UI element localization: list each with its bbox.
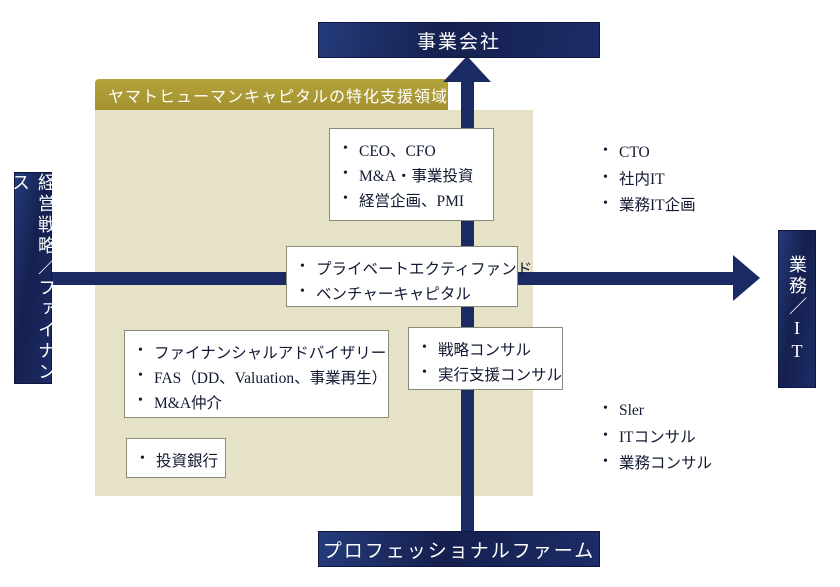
list-item: 社内IT bbox=[602, 167, 696, 194]
list-item: 業務コンサル bbox=[602, 451, 712, 478]
list-item: 戦略コンサル bbox=[421, 338, 548, 363]
list-item: ファイナンシャルアドバイザリー bbox=[137, 341, 374, 366]
banner-business-company: 事業会社 bbox=[318, 22, 600, 58]
banner-operations-it: 業務／IT bbox=[778, 230, 816, 388]
box-investment-bank: 投資銀行 bbox=[126, 438, 226, 478]
list-it-corporate: CTO 社内IT 業務IT企画 bbox=[602, 140, 696, 220]
list-item: M&A仲介 bbox=[137, 391, 374, 416]
list-item: ITコンサル bbox=[602, 425, 712, 452]
box-financial-advisory: ファイナンシャルアドバイザリー FAS（DD、Valuation、事業再生） M… bbox=[124, 330, 389, 418]
list-item: CEO、CFO bbox=[342, 139, 479, 164]
diagram-canvas: ヤマトヒューマンキャピタルの特化支援領域 事業会社 プロフェッショナルファーム … bbox=[0, 0, 840, 587]
right-arrowhead-icon bbox=[733, 255, 760, 301]
highlight-panel-title: ヤマトヒューマンキャピタルの特化支援領域 bbox=[95, 79, 448, 110]
list-item: プライベートエクティファンド bbox=[299, 257, 503, 282]
box-fund-investors: プライベートエクティファンド ベンチャーキャピタル bbox=[286, 246, 518, 307]
banner-strategy-finance: 経営戦略／ファイナンス bbox=[14, 172, 52, 384]
list-item: 経営企画、PMI bbox=[342, 189, 479, 214]
list-item: 業務IT企画 bbox=[602, 193, 696, 220]
list-item: FAS（DD、Valuation、事業再生） bbox=[137, 366, 374, 391]
list-item: 投資銀行 bbox=[139, 449, 211, 474]
list-item: Sler bbox=[602, 398, 712, 425]
list-item: CTO bbox=[602, 140, 696, 167]
banner-professional-firm: プロフェッショナルファーム bbox=[318, 531, 600, 567]
up-arrowhead-icon bbox=[443, 56, 491, 82]
list-item: 実行支援コンサル bbox=[421, 363, 548, 388]
list-item: M&A・事業投資 bbox=[342, 164, 479, 189]
box-consulting: 戦略コンサル 実行支援コンサル bbox=[408, 327, 563, 390]
list-it-vendors: Sler ITコンサル 業務コンサル bbox=[602, 398, 712, 478]
list-item: ベンチャーキャピタル bbox=[299, 282, 503, 307]
box-executive-roles: CEO、CFO M&A・事業投資 経営企画、PMI bbox=[329, 128, 494, 221]
